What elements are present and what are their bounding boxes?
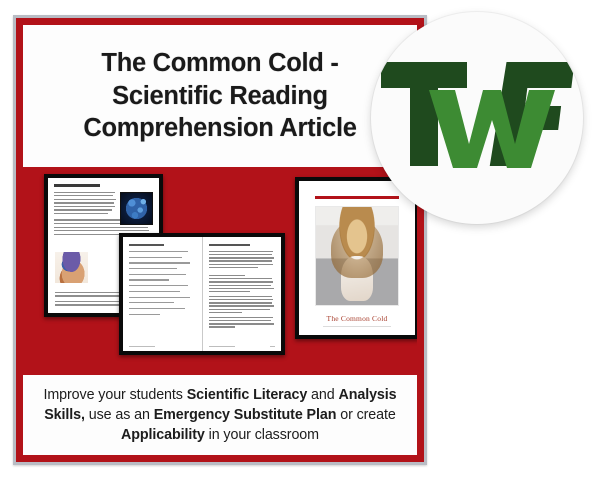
page-number <box>270 346 275 347</box>
article-heading-line <box>209 244 250 246</box>
article-text-page <box>202 237 282 351</box>
preview-showcase: The Common Cold <box>23 167 417 375</box>
product-title-band: The Common Cold - Scientific Reading Com… <box>23 25 417 167</box>
tagline-emphasis: Applicability <box>121 427 205 443</box>
cover-page-thumbnail[interactable]: The Common Cold <box>295 177 417 339</box>
product-thumbnail-card[interactable]: The Common Cold - Scientific Reading Com… <box>13 15 427 465</box>
cover-rule-divider <box>315 196 399 199</box>
cover-page-sheet: The Common Cold <box>299 181 415 335</box>
virus-micrograph-icon <box>120 192 153 225</box>
questions-heading-line <box>129 244 164 246</box>
page-footer-line <box>209 346 235 347</box>
tagline-text: or create <box>336 407 395 423</box>
page-title: The Common Cold - Scientific Reading Com… <box>23 47 417 145</box>
tagline-emphasis: Emergency Substitute Plan <box>154 407 337 423</box>
product-tagline-band: Improve your students Scientific Literac… <box>23 375 417 455</box>
two-page-spread-thumbnail[interactable] <box>119 233 285 355</box>
woman-sneezing-photo <box>315 206 399 306</box>
tagline-emphasis: Scientific Literacy <box>187 387 307 403</box>
spread-sheet <box>123 237 281 351</box>
twf-logo-badge[interactable] <box>371 12 583 224</box>
tagline-text: Improve your students <box>43 387 186 403</box>
tagline-text: and <box>307 387 338 403</box>
product-tagline: Improve your students Scientific Literac… <box>33 385 407 446</box>
page-footer-line <box>129 346 155 347</box>
head-sinus-anatomy-icon <box>55 252 88 283</box>
cover-caption: The Common Cold <box>309 314 405 323</box>
cover-caption-underline <box>323 326 391 327</box>
twf-logo-icon <box>379 58 575 178</box>
tagline-text: use as an <box>85 407 154 423</box>
article-heading-line <box>54 184 100 187</box>
tagline-text: in your classroom <box>205 427 319 443</box>
questions-page <box>123 237 202 351</box>
product-card-inner-frame: The Common Cold - Scientific Reading Com… <box>16 18 424 462</box>
